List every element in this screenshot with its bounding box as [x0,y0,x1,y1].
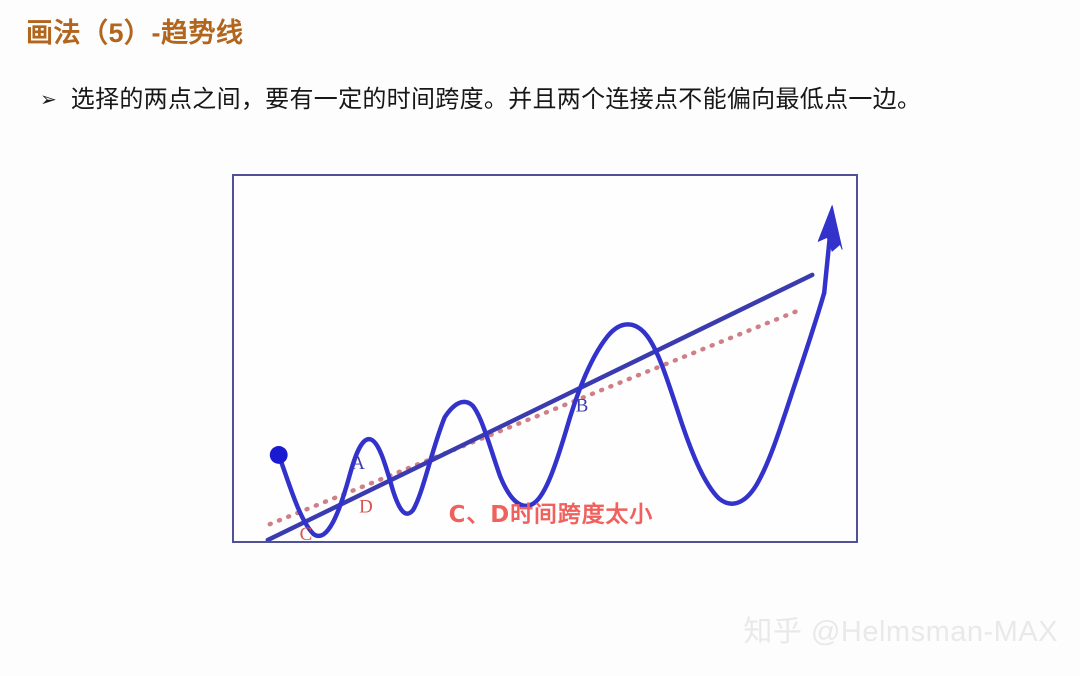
start-dot-marker [270,446,288,464]
point-label-a: A [351,453,365,474]
point-label-b: B [576,395,589,416]
watermark: 知乎 @Helmsman-MAX [743,608,1058,650]
bullet-row: ➢ 选择的两点之间，要有一定的时间跨度。并且两个连接点不能偏向最低点一边。 [40,84,921,115]
trendline-chart: A B C D C、D时间跨度太小 [234,176,856,541]
chart-frame: A B C D C、D时间跨度太小 [232,174,858,543]
point-label-c: C [300,524,313,541]
page-title: 画法（5）-趋势线 [26,19,244,49]
point-label-d: D [359,496,373,517]
arrowhead-bullet-icon: ➢ [40,85,57,115]
too-short-span-trendline [270,311,799,525]
chart-annotation: C、D时间跨度太小 [449,501,654,528]
bullet-text: 选择的两点之间，要有一定的时间跨度。并且两个连接点不能偏向最低点一边。 [71,84,922,115]
